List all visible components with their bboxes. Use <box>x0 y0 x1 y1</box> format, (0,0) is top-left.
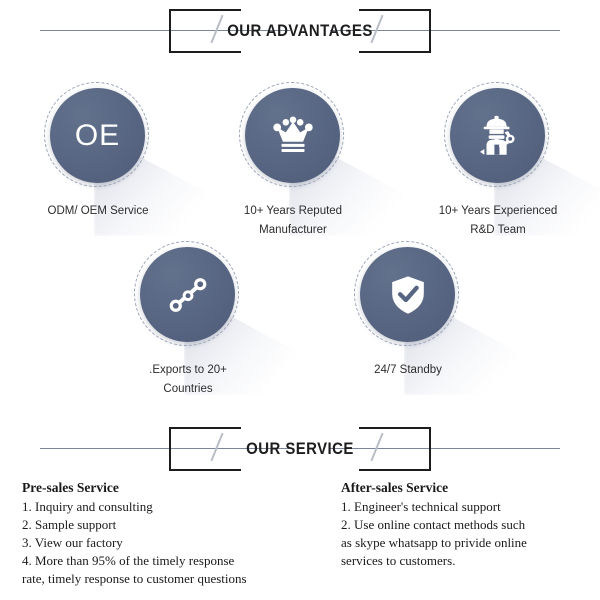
caption-line-1: 10+ Years Experienced <box>403 202 593 221</box>
advantages-service-infographic: OUR ADVANTAGES OE ODM/ OEM Service <box>0 0 600 600</box>
advantage-circle: OE <box>50 88 145 183</box>
advantage-circle <box>450 88 545 183</box>
advantage-caption: 10+ Years Reputed Manufacturer <box>198 202 388 240</box>
advantages-section-banner: OUR ADVANTAGES <box>0 5 600 57</box>
oe-text-icon: OE <box>75 119 120 153</box>
advantage-caption: 10+ Years Experienced R&D Team <box>403 202 593 240</box>
service-title: OUR SERVICE <box>36 423 564 475</box>
caption-line-1: 10+ Years Reputed <box>198 202 388 221</box>
presales-line-4: 4. More than 95% of the timely response <box>22 552 332 570</box>
caption-line-1: .Exports to 20+ <box>93 361 283 380</box>
presales-line-1: 1. Inquiry and consulting <box>22 498 332 516</box>
caption-line-2: Manufacturer <box>198 221 388 240</box>
aftersales-line-2: 2. Use online contact methods such <box>341 516 591 534</box>
advantage-caption: .Exports to 20+ Countries <box>93 361 283 399</box>
network-nodes-icon <box>165 272 211 318</box>
advantage-circle <box>140 247 235 342</box>
aftersales-line-1: 1. Engineer's technical support <box>341 498 591 516</box>
aftersales-column: After-sales Service 1. Engineer's techni… <box>341 480 591 570</box>
service-columns: Pre-sales Service 1. Inquiry and consult… <box>0 480 600 600</box>
caption-line-1: 24/7 Standby <box>313 361 503 380</box>
aftersales-line-4: services to customers. <box>341 552 591 570</box>
caption-line-2: Countries <box>93 380 283 399</box>
caption-line-1: ODM/ OEM Service <box>3 202 193 221</box>
presales-line-3: 3. View our factory <box>22 534 332 552</box>
advantages-title: OUR ADVANTAGES <box>36 5 564 57</box>
service-section-banner: OUR SERVICE <box>0 423 600 475</box>
advantages-grid: OE ODM/ OEM Service <box>0 78 600 418</box>
crown-icon <box>270 113 316 159</box>
engineer-icon <box>475 113 521 159</box>
caption-line-2: R&D Team <box>403 221 593 240</box>
presales-heading: Pre-sales Service <box>22 480 332 496</box>
advantage-circle <box>360 247 455 342</box>
aftersales-line-3: as skype whatsapp to privide online <box>341 534 591 552</box>
presales-line-2: 2. Sample support <box>22 516 332 534</box>
shield-check-icon <box>385 272 431 318</box>
advantage-caption: 24/7 Standby <box>313 361 503 380</box>
aftersales-heading: After-sales Service <box>341 480 591 496</box>
presales-line-5: rate, timely response to customer questi… <box>22 570 332 588</box>
advantage-circle <box>245 88 340 183</box>
presales-column: Pre-sales Service 1. Inquiry and consult… <box>22 480 332 588</box>
advantage-caption: ODM/ OEM Service <box>3 202 193 221</box>
